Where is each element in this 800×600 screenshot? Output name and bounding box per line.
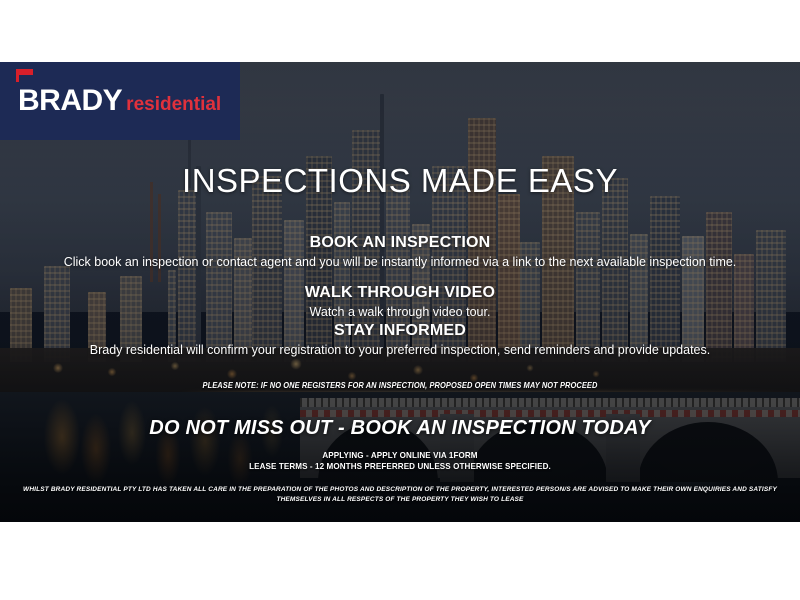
section-heading: BOOK AN INSPECTION <box>60 234 740 252</box>
section-body: Brady residential will confirm your regi… <box>60 343 740 359</box>
brady-logo[interactable]: BRADY residential <box>0 62 240 140</box>
section-book-an-inspection: BOOK AN INSPECTION Click book an inspect… <box>60 234 740 271</box>
legal-disclaimer: WHILST BRADY RESIDENTIAL PTY LTD HAS TAK… <box>12 485 788 505</box>
call-to-action-text: DO NOT MISS OUT - BOOK AN INSPECTION TOD… <box>0 417 800 440</box>
flag-icon <box>16 69 33 82</box>
section-stay-informed: STAY INFORMED Brady residential will con… <box>60 322 740 359</box>
lease-terms-info: LEASE TERMS - 12 MONTHS PREFERRED UNLESS… <box>20 461 780 471</box>
logo-sub-text: residential <box>126 95 221 114</box>
page-root: BRADY residential INSPECTIONS MADE EASY … <box>0 0 800 600</box>
applying-info: APPLYING - APPLY ONLINE VIA 1FORM <box>20 450 780 460</box>
section-heading: WALK THROUGH VIDEO <box>60 284 740 302</box>
section-walk-through-video: WALK THROUGH VIDEO Watch a walk through … <box>60 284 740 321</box>
page-title: INSPECTIONS MADE EASY <box>0 162 800 200</box>
please-note-text: PLEASE NOTE: IF NO ONE REGISTERS FOR AN … <box>28 381 772 390</box>
section-body: Click book an inspection or contact agen… <box>60 255 740 271</box>
logo-brand-text: BRADY <box>18 86 122 116</box>
section-body: Watch a walk through video tour. <box>60 305 740 321</box>
section-heading: STAY INFORMED <box>60 322 740 340</box>
logo-lockup: BRADY residential <box>18 86 221 116</box>
hero-banner: BRADY residential INSPECTIONS MADE EASY … <box>0 62 800 522</box>
